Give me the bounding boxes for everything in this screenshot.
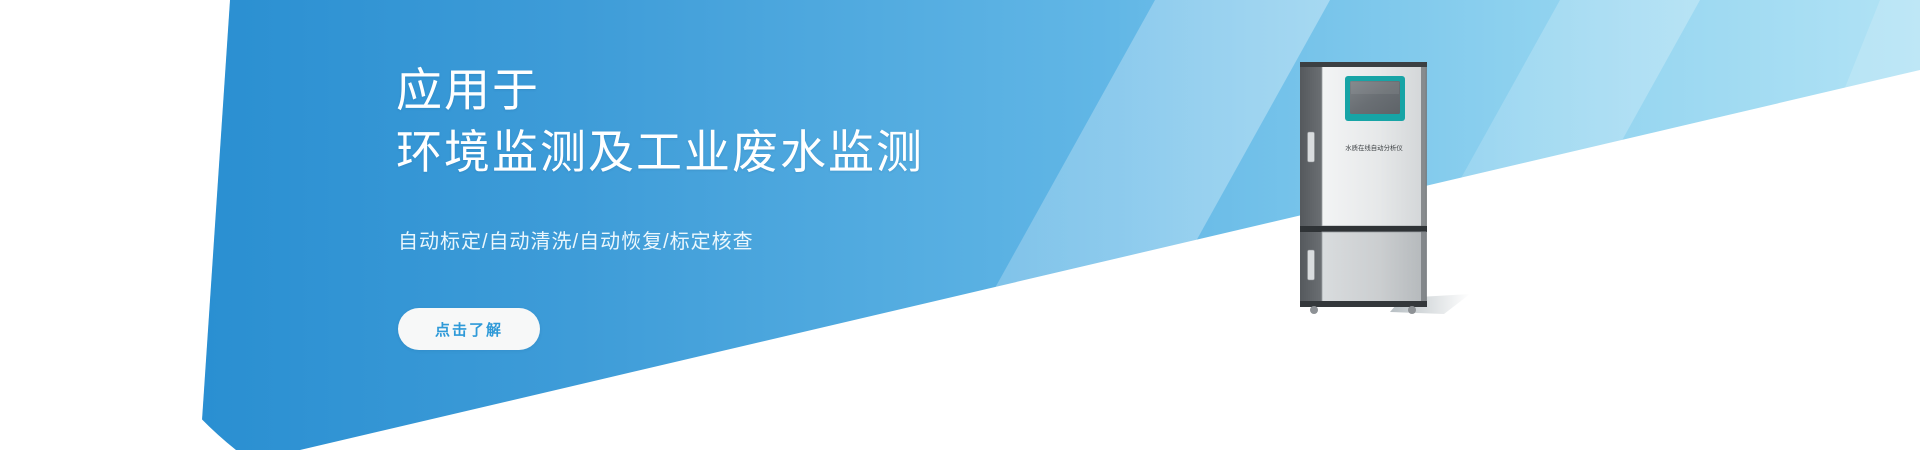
product-image: 水质在线自动分析仪 — [1294, 62, 1474, 318]
banner-subheadline: 自动标定/自动清洗/自动恢复/标定核查 — [398, 225, 754, 254]
hero-banner: 水质在线自动分析仪 应用于 环境监测及工业废水监测 自动标定/自动清洗/自动恢复… — [0, 0, 1920, 450]
cabinet-top-trim — [1300, 62, 1427, 67]
product-label: 水质在线自动分析仪 — [1345, 143, 1403, 152]
upper-door-handle — [1308, 132, 1315, 162]
left-white-strip — [0, 0, 230, 450]
lower-door-handle — [1308, 250, 1315, 280]
cabinet-mid-divider — [1300, 226, 1427, 232]
cabinet-upper-right-edge — [1421, 64, 1427, 226]
caster-left — [1310, 306, 1318, 314]
analyzer-cabinet-illustration: 水质在线自动分析仪 — [1294, 62, 1474, 318]
cabinet-lower-door — [1322, 232, 1426, 305]
page-title: 应用于 环境监测及工业废水监测 — [396, 60, 924, 183]
banner-content: 应用于 环境监测及工业废水监测 自动标定/自动清洗/自动恢复/标定核查 点击了解 — [396, 0, 1116, 450]
cabinet-bottom-trim — [1300, 301, 1427, 307]
caster-right — [1408, 306, 1416, 314]
screen-reflection — [1351, 82, 1399, 94]
cabinet-lower-right-edge — [1421, 232, 1427, 305]
learn-more-button[interactable]: 点击了解 — [398, 308, 540, 350]
